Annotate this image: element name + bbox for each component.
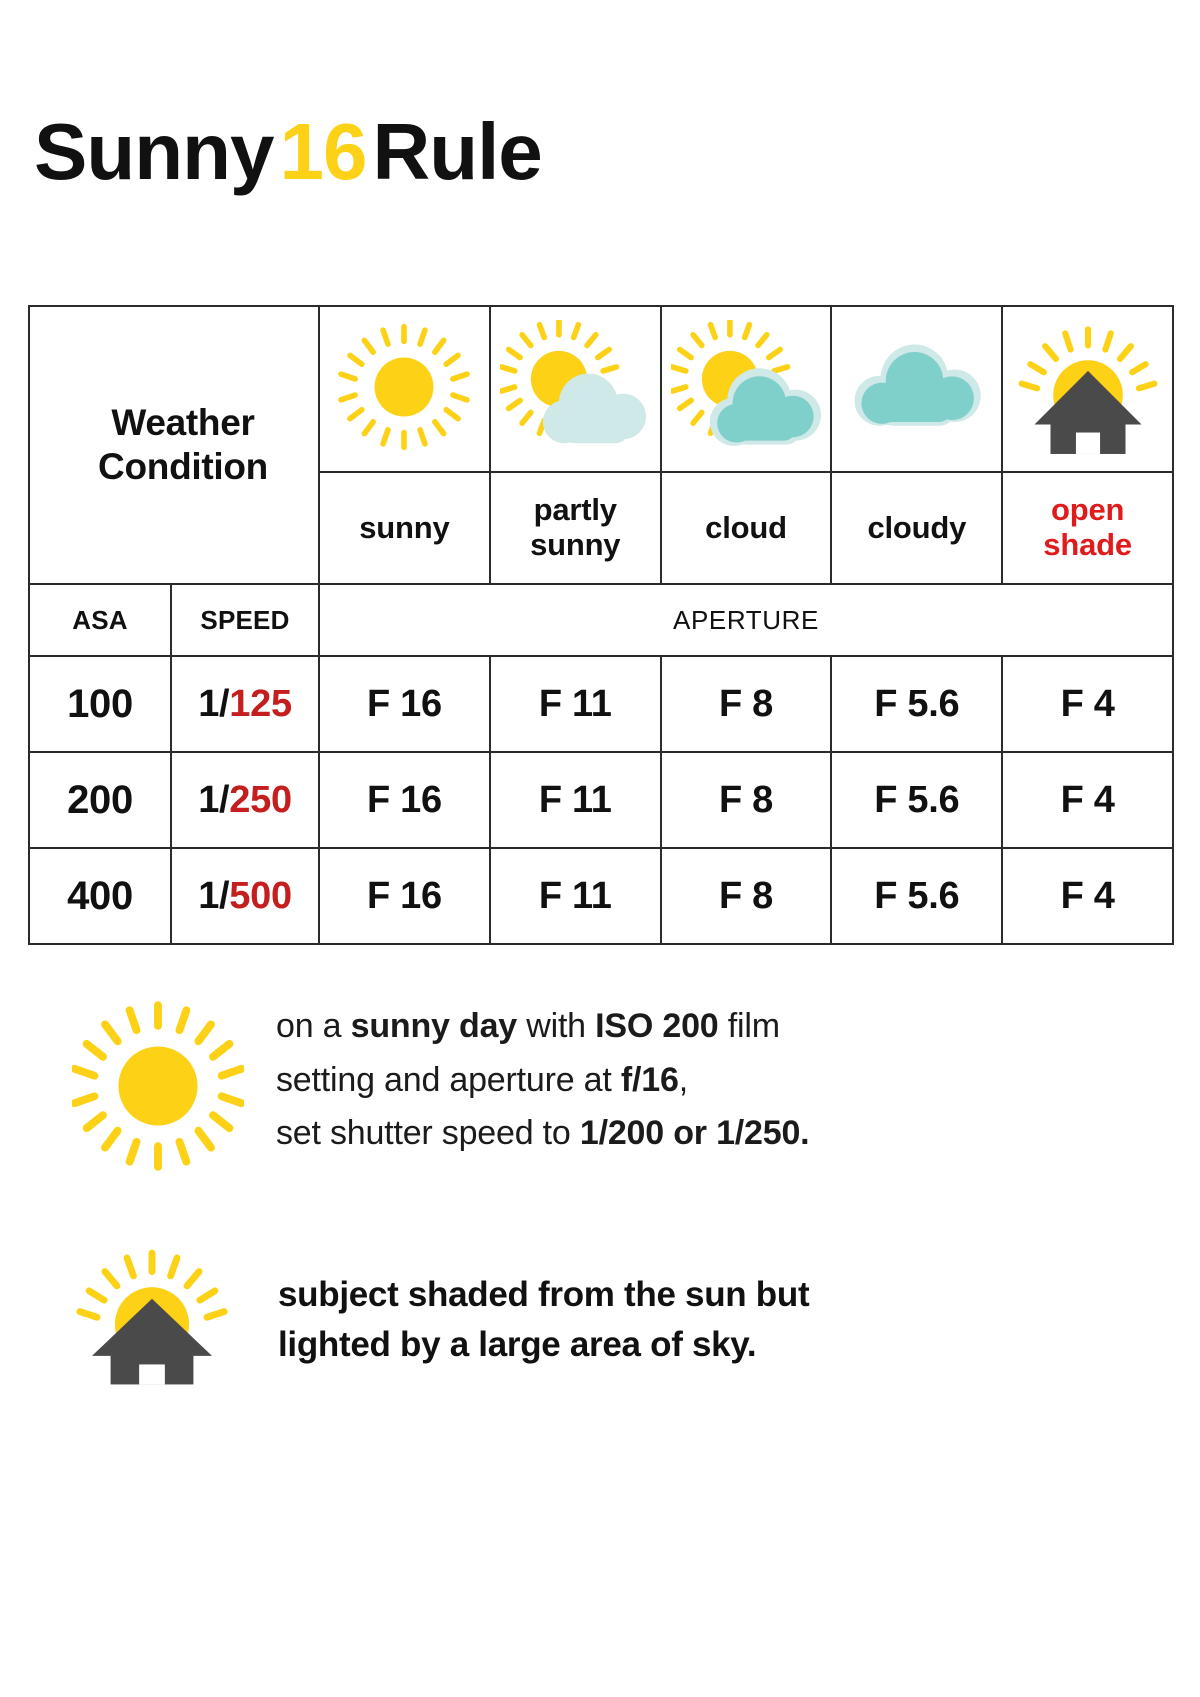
cell-aperture-0-2: F 8: [661, 656, 832, 752]
cell-aperture-1-1: F 11: [490, 752, 661, 848]
weather-condition-line1: Weather: [48, 401, 318, 445]
note-l3-b: 1/200 or 1/250.: [580, 1114, 810, 1152]
note-l1-c: with: [517, 1007, 595, 1045]
table-row: 400 1/500 F 16 F 11 F 8 F 5.6 F 4: [29, 848, 1173, 944]
cell-aperture-1-3: F 5.6: [831, 752, 1002, 848]
speed-denominator-2: 500: [229, 875, 292, 917]
condition-name-partly-sunny-line1: partly: [491, 493, 660, 528]
title-highlight-16: 16: [273, 107, 372, 196]
header-aperture: APERTURE: [319, 584, 1173, 656]
note2-line-2: lighted by a large area of sky.: [278, 1320, 809, 1370]
condition-name-open-shade: open shade: [1002, 472, 1173, 584]
condition-name-sunny: sunny: [319, 472, 490, 584]
weather-condition-label: Weather Condition: [29, 306, 319, 584]
cell-aperture-0-3: F 5.6: [831, 656, 1002, 752]
sun-icon: [72, 1000, 244, 1172]
cell-aperture-0-1: F 11: [490, 656, 661, 752]
sun-behind-house-icon: [1013, 320, 1163, 454]
cell-asa-100: 100: [29, 656, 171, 752]
sunny16-table-wrapper: Weather Condition: [28, 305, 1172, 945]
speed-denominator-1: 250: [229, 779, 292, 821]
speed-prefix-0: 1/: [198, 683, 229, 725]
note-l1-a: on a: [276, 1007, 351, 1045]
title-part-1: Sunny: [34, 107, 273, 196]
table-row: 200 1/250 F 16 F 11 F 8 F 5.6 F 4: [29, 752, 1173, 848]
infographic-page: Sunny16Rule Weather Condition: [0, 0, 1200, 1697]
speed-prefix-2: 1/: [198, 875, 229, 917]
cell-aperture-2-2: F 8: [661, 848, 832, 944]
note-line-3: set shutter speed to 1/200 or 1/250.: [276, 1107, 809, 1161]
note-l2-b: f/16: [621, 1061, 679, 1099]
condition-name-cloudy-line1: cloudy: [832, 511, 1001, 546]
note-l1-d: ISO 200: [595, 1007, 718, 1045]
icon-cell-partly-sunny: [490, 306, 661, 472]
note-l2-c: ,: [679, 1061, 688, 1099]
speed-denominator-0: 125: [229, 683, 292, 725]
note-line-1: on a sunny day with ISO 200 film: [276, 1000, 809, 1054]
note-sun-art: [72, 1000, 244, 1177]
cell-aperture-2-0: F 16: [319, 848, 490, 944]
cell-speed-400: 1/500: [171, 848, 319, 944]
condition-name-sunny-line1: sunny: [320, 511, 489, 546]
note-sunny-day: on a sunny day with ISO 200 film setting…: [72, 1000, 809, 1177]
note-line-2: setting and aperture at f/16,: [276, 1054, 809, 1108]
note-open-shade: subject shaded from the sun but lighted …: [72, 1238, 809, 1393]
header-speed: SPEED: [171, 584, 319, 656]
speed-prefix-1: 1/: [198, 779, 229, 821]
condition-name-open-shade-line2: shade: [1003, 528, 1172, 563]
note-l3-a: set shutter speed to: [276, 1114, 580, 1152]
table-row-icons: Weather Condition: [29, 306, 1173, 472]
cell-asa-400: 400: [29, 848, 171, 944]
condition-name-cloud-line1: cloud: [662, 511, 831, 546]
cell-aperture-2-3: F 5.6: [831, 848, 1002, 944]
condition-name-partly-sunny: partly sunny: [490, 472, 661, 584]
condition-name-partly-sunny-line2: sunny: [491, 528, 660, 563]
note-l1-e: film: [719, 1007, 780, 1045]
cell-aperture-1-4: F 4: [1002, 752, 1173, 848]
note-house-art: [72, 1238, 232, 1393]
cell-speed-200: 1/250: [171, 752, 319, 848]
cell-aperture-0-4: F 4: [1002, 656, 1173, 752]
table-row: 100 1/125 F 16 F 11 F 8 F 5.6 F 4: [29, 656, 1173, 752]
note-open-shade-text: subject shaded from the sun but lighted …: [278, 1270, 809, 1369]
note2-line-1: subject shaded from the sun but: [278, 1270, 809, 1320]
header-asa: ASA: [29, 584, 171, 656]
cell-asa-200: 200: [29, 752, 171, 848]
note-l2-a: setting and aperture at: [276, 1061, 621, 1099]
icon-cell-cloudy: [831, 306, 1002, 472]
cell-aperture-1-2: F 8: [661, 752, 832, 848]
sun-behind-light-cloud-icon: [500, 320, 650, 454]
condition-name-open-shade-line1: open: [1003, 493, 1172, 528]
title-part-2: Rule: [372, 107, 541, 196]
weather-condition-line2: Condition: [48, 445, 318, 489]
condition-name-cloud: cloud: [661, 472, 832, 584]
cell-aperture-2-4: F 4: [1002, 848, 1173, 944]
note-l1-b: sunny day: [351, 1007, 517, 1045]
cell-aperture-0-0: F 16: [319, 656, 490, 752]
icon-cell-cloud: [661, 306, 832, 472]
note-sunny-day-text: on a sunny day with ISO 200 film setting…: [276, 1000, 809, 1161]
cell-speed-100: 1/125: [171, 656, 319, 752]
cloud-icon: [842, 327, 992, 447]
sun-behind-house-icon: [72, 1238, 232, 1388]
icon-cell-sunny: [319, 306, 490, 472]
icon-cell-open-shade: [1002, 306, 1173, 472]
sun-icon: [337, 320, 471, 454]
table-row-headers: ASA SPEED APERTURE: [29, 584, 1173, 656]
condition-name-cloudy: cloudy: [831, 472, 1002, 584]
cell-aperture-2-1: F 11: [490, 848, 661, 944]
page-title: Sunny16Rule: [34, 112, 542, 192]
cell-aperture-1-0: F 16: [319, 752, 490, 848]
sun-behind-cloud-icon: [671, 320, 821, 454]
sunny16-table: Weather Condition: [28, 305, 1174, 945]
